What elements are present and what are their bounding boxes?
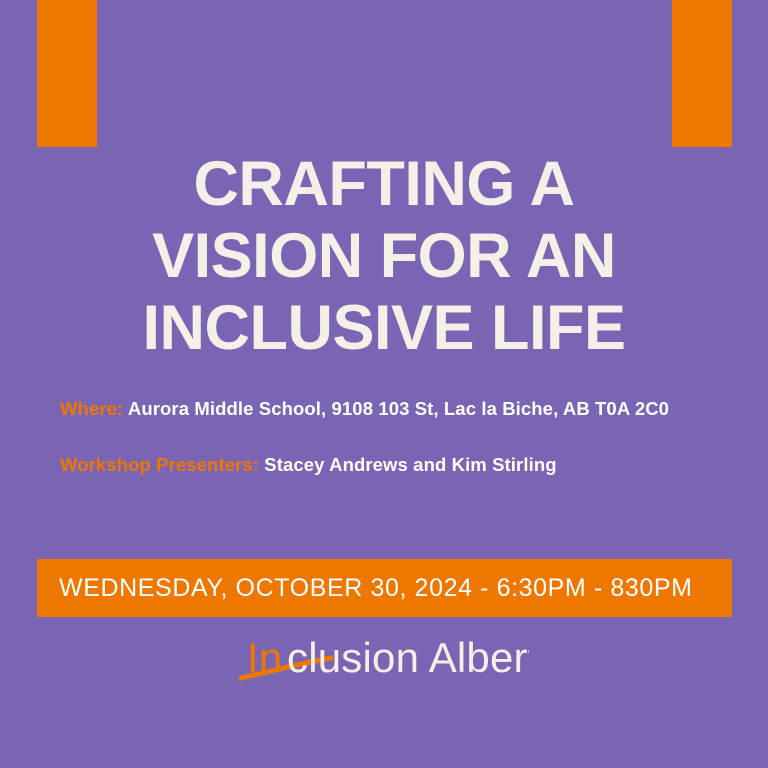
presenters-line: Workshop Presenters: Stacey Andrews and … <box>60 454 557 476</box>
presenters-label: Workshop Presenters: <box>60 454 259 475</box>
date-time-banner: WEDNESDAY, OCTOBER 30, 2024 - 6:30PM - 8… <box>37 559 732 617</box>
inclusion-alberta-logo-mark: In clusion Alberta <box>239 632 529 688</box>
inclusion-alberta-logo: In clusion Alberta <box>0 632 768 688</box>
location-line: Where: Aurora Middle School, 9108 103 St… <box>60 398 669 420</box>
headline-line-1: CRAFTING A <box>0 148 768 220</box>
poster-headline: CRAFTING A VISION FOR AN INCLUSIVE LIFE <box>0 148 768 364</box>
event-poster: CRAFTING A VISION FOR AN INCLUSIVE LIFE … <box>0 0 768 768</box>
presenters-value: Stacey Andrews and Kim Stirling <box>259 454 557 475</box>
logo-rest-text: clusion Alberta <box>287 634 529 681</box>
logo-accent-text: In <box>247 634 282 681</box>
decorative-bar-left <box>37 0 97 147</box>
date-time-text: WEDNESDAY, OCTOBER 30, 2024 - 6:30PM - 8… <box>37 574 693 603</box>
headline-line-2: VISION FOR AN <box>0 220 768 292</box>
decorative-bar-right <box>672 0 732 147</box>
location-label: Where: <box>60 398 123 419</box>
location-value: Aurora Middle School, 9108 103 St, Lac l… <box>123 398 669 419</box>
headline-line-3: INCLUSIVE LIFE <box>0 292 768 364</box>
